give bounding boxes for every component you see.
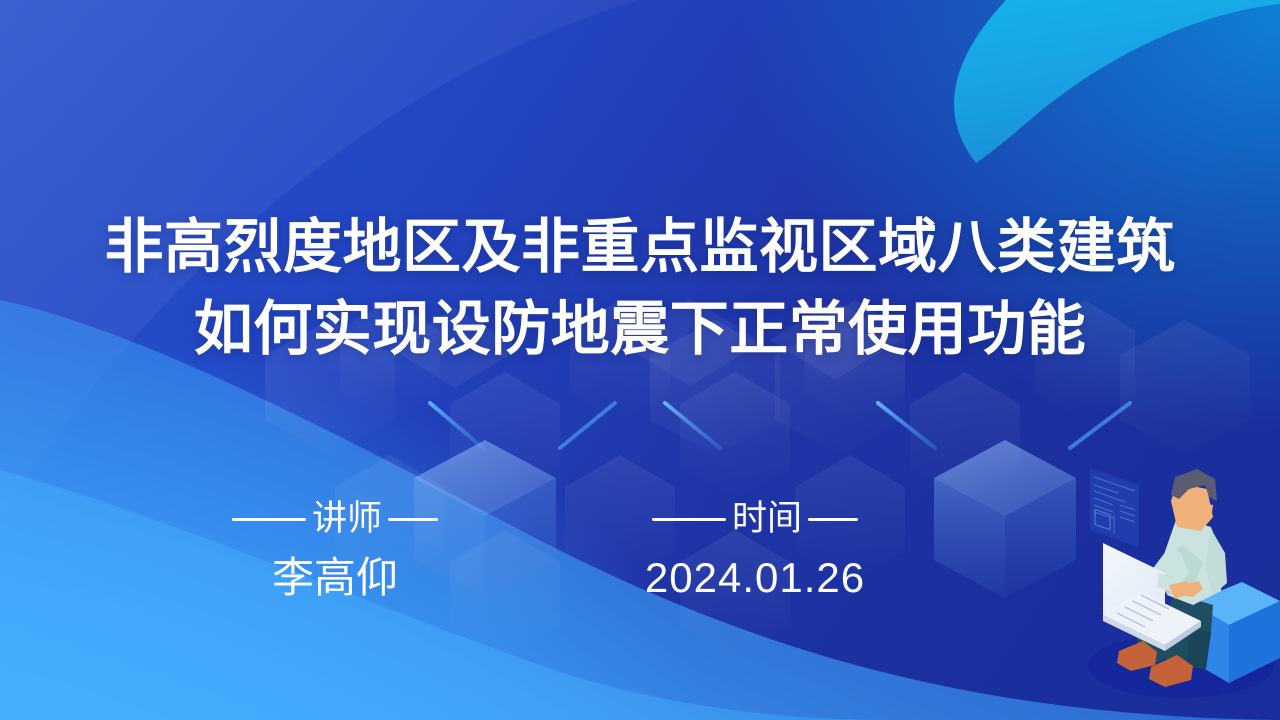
title-line-2: 如何实现设防地震下正常使用功能 xyxy=(0,288,1280,370)
speaker-rule-right-icon xyxy=(388,518,438,521)
time-rule-left-icon xyxy=(652,518,726,521)
speaker-block: 讲师 李高仰 xyxy=(185,496,485,608)
speaker-rule-left-icon xyxy=(232,518,306,521)
time-value: 2024.01.26 xyxy=(605,548,905,608)
speaker-label-row: 讲师 xyxy=(185,496,485,542)
time-label: 时间 xyxy=(732,496,802,542)
slide-title: 非高烈度地区及非重点监视区域八类建筑 如何实现设防地震下正常使用功能 xyxy=(0,206,1280,370)
speaker-name: 李高仰 xyxy=(185,548,485,608)
person-sitting-with-laptop-illustration xyxy=(1073,455,1280,705)
speaker-label: 讲师 xyxy=(312,496,382,542)
monitor-screen-icon xyxy=(1090,468,1139,547)
title-line-1: 非高烈度地区及非重点监视区域八类建筑 xyxy=(0,206,1280,288)
time-label-row: 时间 xyxy=(605,496,905,542)
time-rule-right-icon xyxy=(808,518,858,521)
title-slide: 非高烈度地区及非重点监视区域八类建筑 如何实现设防地震下正常使用功能 讲师 李高… xyxy=(0,0,1280,720)
time-block: 时间 2024.01.26 xyxy=(605,496,905,608)
person-head xyxy=(1171,469,1217,531)
